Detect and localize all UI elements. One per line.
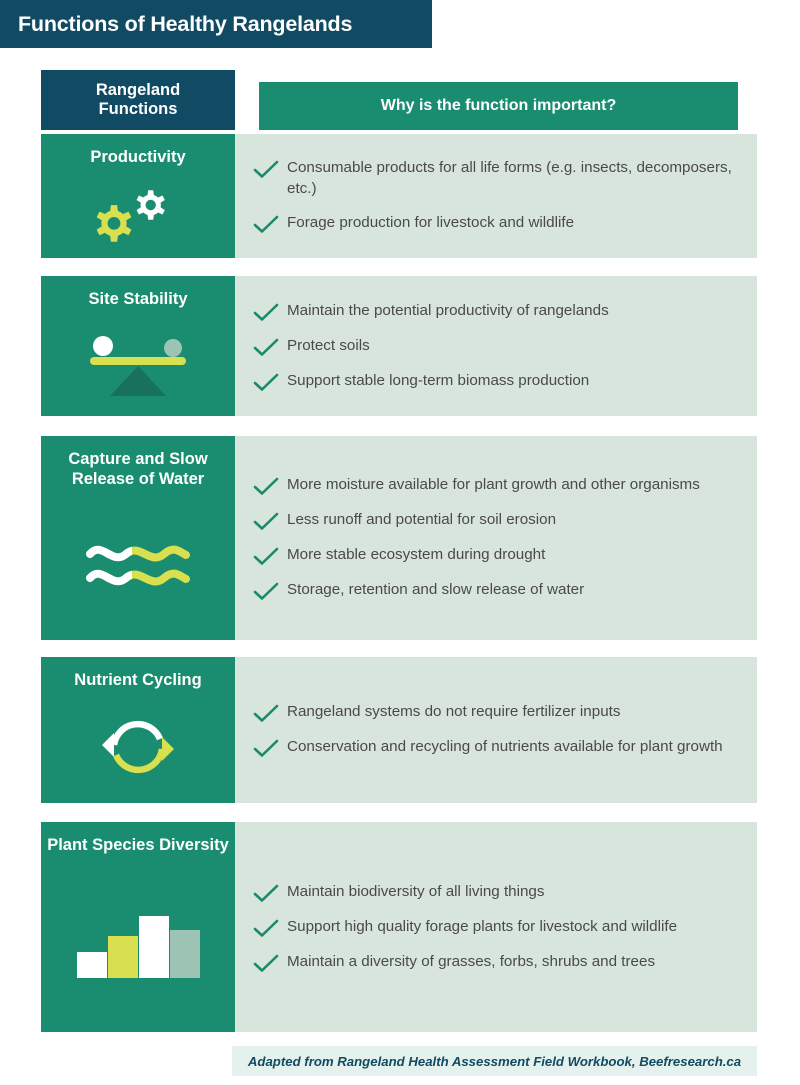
title-banner: Functions of Healthy Rangelands bbox=[0, 0, 432, 48]
list-item-text: Support high quality forage plants for l… bbox=[287, 917, 677, 937]
row-label-capture-slow-release-of-water: Capture and Slow Release of Water bbox=[41, 436, 235, 640]
check-icon bbox=[253, 338, 279, 357]
check-icon bbox=[253, 739, 279, 758]
row-label-nutrient-cycling: Nutrient Cycling bbox=[41, 657, 235, 803]
list-item-text: Protect soils bbox=[287, 336, 370, 356]
row-label-text: Capture and Slow Release of Water bbox=[41, 450, 235, 490]
table-row: Plant Species Diversity Maintain biodive… bbox=[41, 822, 757, 1032]
table-row: Capture and Slow Release of Water bbox=[41, 436, 757, 640]
check-icon bbox=[253, 704, 279, 723]
list-item-text: Maintain the potential productivity of r… bbox=[287, 301, 609, 321]
list-item: Storage, retention and slow release of w… bbox=[253, 580, 741, 601]
row-label-text: Productivity bbox=[84, 148, 191, 168]
check-icon bbox=[253, 884, 279, 903]
list-item: Maintain the potential productivity of r… bbox=[253, 301, 741, 322]
row-label-plant-species-diversity: Plant Species Diversity bbox=[41, 822, 235, 1032]
list-item-text: Rangeland systems do not require fertili… bbox=[287, 702, 620, 722]
header-rangeland-functions: RangelandFunctions bbox=[41, 70, 235, 130]
list-item-text: Less runoff and potential for soil erosi… bbox=[287, 510, 556, 530]
check-icon bbox=[253, 160, 279, 179]
list-item-text: Support stable long-term biomass product… bbox=[287, 371, 589, 391]
list-item-text: Maintain a diversity of grasses, forbs, … bbox=[287, 952, 655, 972]
check-icon bbox=[253, 582, 279, 601]
check-icon bbox=[253, 477, 279, 496]
check-icon bbox=[253, 547, 279, 566]
page-title: Functions of Healthy Rangelands bbox=[18, 12, 352, 37]
balance-seesaw-icon bbox=[41, 310, 235, 416]
gears-icon bbox=[41, 168, 235, 258]
check-icon bbox=[253, 373, 279, 392]
list-item: Support stable long-term biomass product… bbox=[253, 371, 741, 392]
header-right-label: Why is the function important? bbox=[381, 97, 617, 115]
row-body-productivity: Consumable products for all life forms (… bbox=[235, 134, 757, 258]
list-item: Maintain a diversity of grasses, forbs, … bbox=[253, 952, 741, 973]
row-body-capture-slow-release-of-water: More moisture available for plant growth… bbox=[235, 436, 757, 640]
header-left-label: RangelandFunctions bbox=[96, 81, 180, 120]
table-row: Nutrient Cycling Rangeland systems do no… bbox=[41, 657, 757, 803]
list-item: Protect soils bbox=[253, 336, 741, 357]
footer-text: Adapted from Rangeland Health Assessment… bbox=[248, 1054, 741, 1069]
list-item-text: Conservation and recycling of nutrients … bbox=[287, 737, 723, 757]
list-item: Maintain biodiversity of all living thin… bbox=[253, 882, 741, 903]
row-body-site-stability: Maintain the potential productivity of r… bbox=[235, 276, 757, 416]
row-label-productivity: Productivity bbox=[41, 134, 235, 258]
recycle-arrows-icon bbox=[41, 691, 235, 803]
row-label-text: Nutrient Cycling bbox=[68, 671, 207, 691]
list-item-text: Storage, retention and slow release of w… bbox=[287, 580, 584, 600]
row-label-site-stability: Site Stability bbox=[41, 276, 235, 416]
bar-chart-icon bbox=[41, 856, 235, 1032]
row-body-plant-species-diversity: Maintain biodiversity of all living thin… bbox=[235, 822, 757, 1032]
water-waves-icon bbox=[41, 490, 235, 640]
list-item: Forage production for livestock and wild… bbox=[253, 213, 741, 234]
list-item-text: More stable ecosystem during drought bbox=[287, 545, 545, 565]
list-item-text: More moisture available for plant growth… bbox=[287, 475, 700, 495]
list-item: More moisture available for plant growth… bbox=[253, 475, 741, 496]
footer-attribution: Adapted from Rangeland Health Assessment… bbox=[232, 1046, 757, 1076]
check-icon bbox=[253, 919, 279, 938]
list-item-text: Consumable products for all life forms (… bbox=[287, 158, 741, 198]
check-icon bbox=[253, 954, 279, 973]
list-item-text: Forage production for livestock and wild… bbox=[287, 213, 574, 233]
row-label-text: Site Stability bbox=[82, 290, 193, 310]
check-icon bbox=[253, 303, 279, 322]
table-row: Productivity Consumable products for a bbox=[41, 134, 757, 258]
list-item: Support high quality forage plants for l… bbox=[253, 917, 741, 938]
check-icon bbox=[253, 512, 279, 531]
list-item: Consumable products for all life forms (… bbox=[253, 158, 741, 198]
row-label-text: Plant Species Diversity bbox=[41, 836, 235, 856]
list-item: Conservation and recycling of nutrients … bbox=[253, 737, 741, 758]
list-item: Less runoff and potential for soil erosi… bbox=[253, 510, 741, 531]
list-item: More stable ecosystem during drought bbox=[253, 545, 741, 566]
check-icon bbox=[253, 215, 279, 234]
infographic-root: Functions of Healthy Rangelands Rangelan… bbox=[0, 0, 800, 1085]
list-item-text: Maintain biodiversity of all living thin… bbox=[287, 882, 544, 902]
row-body-nutrient-cycling: Rangeland systems do not require fertili… bbox=[235, 657, 757, 803]
column-header-row: RangelandFunctions Why is the function i… bbox=[41, 70, 757, 130]
header-why-important: Why is the function important? bbox=[259, 82, 738, 130]
list-item: Rangeland systems do not require fertili… bbox=[253, 702, 741, 723]
table-row: Site Stability Maintain the potential pr… bbox=[41, 276, 757, 416]
